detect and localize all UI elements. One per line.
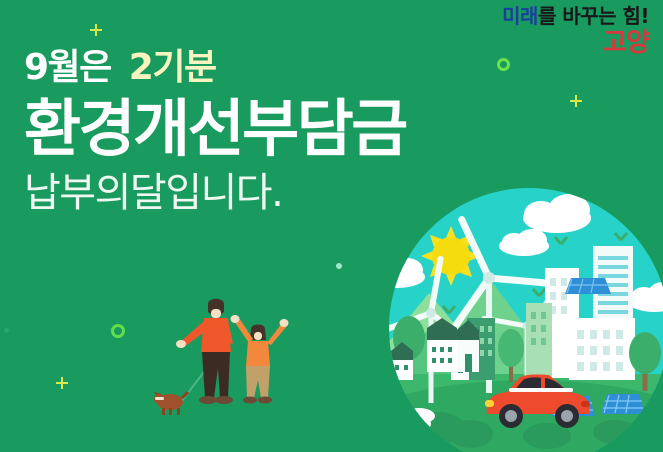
- adult-shoe-right: [215, 396, 233, 404]
- rooftop-solar-panel: [565, 278, 611, 294]
- headline-title: 환경개선부담금: [24, 96, 584, 161]
- cloud-left: [379, 258, 425, 288]
- logo-slogan: 미래를 바꾸는 힘!: [502, 6, 649, 26]
- adult-hand: [176, 340, 186, 348]
- poster-canvas: 미래를 바꾸는 힘! 고양 9월은2기분 환경개선부담금 납부의달입니다.: [0, 0, 663, 452]
- child-shoe-left: [243, 397, 257, 404]
- headline-line-1: 9월은2기분: [24, 48, 584, 88]
- logo-slogan-rest: 를 바꾸는 힘!: [538, 4, 649, 28]
- adult-figure: [176, 299, 233, 404]
- headline-installment: 2기분: [129, 47, 216, 88]
- eco-city-illustration: [379, 178, 663, 452]
- headline-subtitle: 납부의달입니다.: [24, 171, 584, 215]
- child-hand-right: [280, 319, 289, 327]
- illustration-circle: [379, 178, 663, 452]
- dot-far-left: [4, 328, 9, 333]
- child-hand-left: [231, 315, 240, 323]
- adult-shoe-left: [199, 396, 217, 404]
- family-walking-dog: [150, 288, 330, 428]
- dot-mid-right: [336, 263, 342, 269]
- dog: [154, 392, 188, 415]
- child-shoe-right: [258, 397, 272, 404]
- child-figure: [231, 315, 289, 404]
- ring-mid-left: [111, 324, 125, 338]
- headline-month: 9월은: [24, 47, 111, 88]
- cross-bottom-left: [56, 377, 68, 389]
- logo-slogan-highlight: 미래: [502, 4, 538, 28]
- cross-top-left: [90, 24, 102, 36]
- snow-patch: [379, 408, 435, 435]
- headline-block: 9월은2기분 환경개선부담금 납부의달입니다.: [24, 48, 584, 215]
